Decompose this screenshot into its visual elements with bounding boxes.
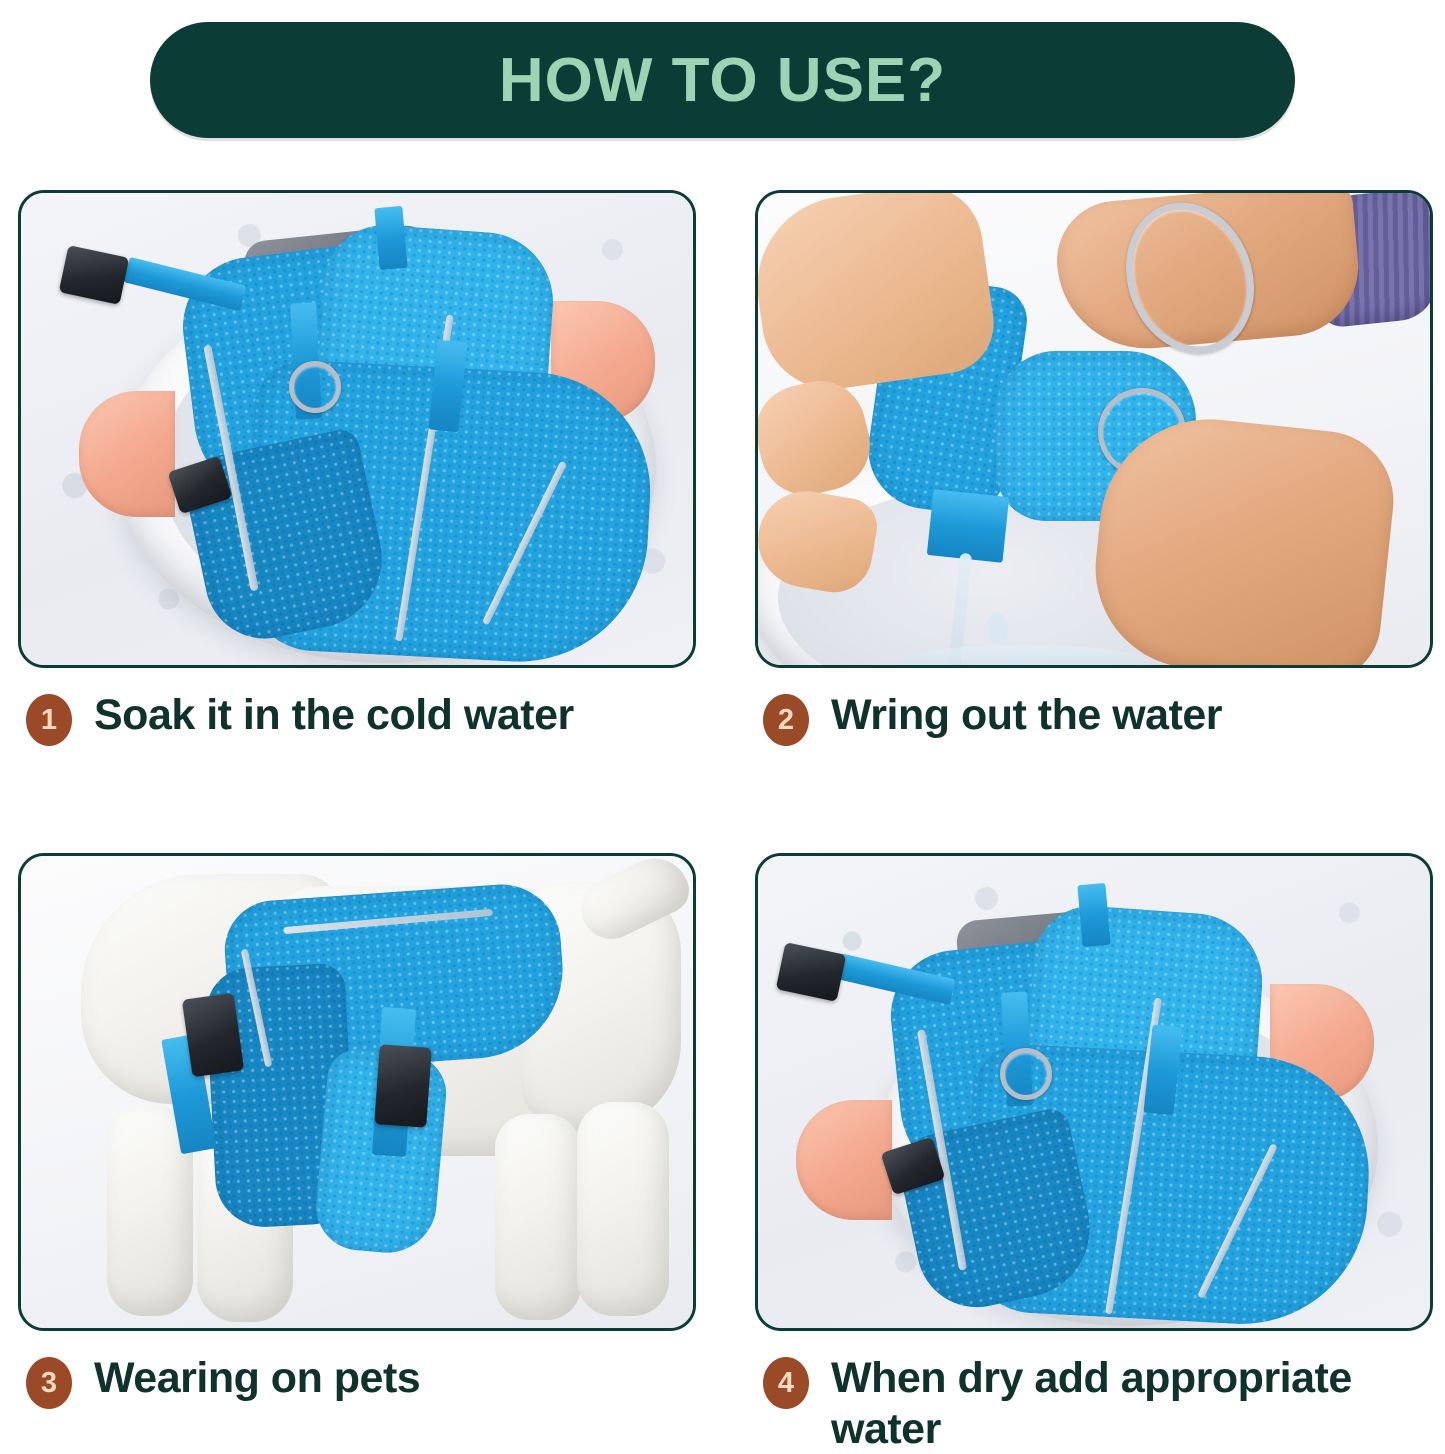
page-title: HOW TO USE? xyxy=(499,45,946,116)
scene-dog-wearing xyxy=(21,856,693,1328)
step-1-photo xyxy=(18,190,696,668)
d-ring-2 xyxy=(1000,1048,1052,1100)
step-4-photo xyxy=(755,853,1433,1331)
hanging-strap xyxy=(927,489,1009,563)
step-label-4: When dry add appropriate water xyxy=(831,1353,1411,1454)
scene-refill-basin xyxy=(758,856,1430,1328)
step-card-4: 4 When dry add appropriate water xyxy=(755,853,1427,1454)
step-number-badge-2: 2 xyxy=(763,694,809,746)
top-strap-2 xyxy=(1077,883,1110,947)
dog-leg-back-far xyxy=(495,1114,581,1320)
step-label-2: Wring out the water xyxy=(831,690,1222,741)
hand-upper xyxy=(755,190,1000,398)
rear-buckle xyxy=(374,1044,431,1127)
step-2-photo xyxy=(755,190,1433,668)
basin-handle-left xyxy=(79,391,175,517)
step-card-3: 3 Wearing on pets xyxy=(18,853,690,1409)
scene-wring-hands xyxy=(758,193,1430,665)
step-card-2: 2 Wring out the water xyxy=(755,190,1427,746)
step-card-1: 1 Soak it in the cold water xyxy=(18,190,690,746)
step-number-badge-4: 4 xyxy=(763,1357,809,1409)
d-ring xyxy=(289,361,341,413)
top-strap xyxy=(374,206,407,270)
step-label-1: Soak it in the cold water xyxy=(94,690,574,741)
step-3-caption: 3 Wearing on pets xyxy=(18,1353,690,1409)
step-2-caption: 2 Wring out the water xyxy=(755,690,1427,746)
step-4-caption: 4 When dry add appropriate water xyxy=(755,1353,1427,1454)
step-1-caption: 1 Soak it in the cold water xyxy=(18,690,690,746)
step-number-badge-1: 1 xyxy=(26,694,72,746)
step-3-photo xyxy=(18,853,696,1331)
front-buckle xyxy=(182,993,244,1077)
step-number-badge-3: 3 xyxy=(26,1357,72,1409)
water-droplet-1 xyxy=(986,613,1008,643)
scene-soak-basin xyxy=(21,193,693,665)
step-label-3: Wearing on pets xyxy=(94,1353,420,1404)
header-banner: HOW TO USE? xyxy=(150,22,1295,138)
dog-leg-back-near xyxy=(577,1102,669,1316)
